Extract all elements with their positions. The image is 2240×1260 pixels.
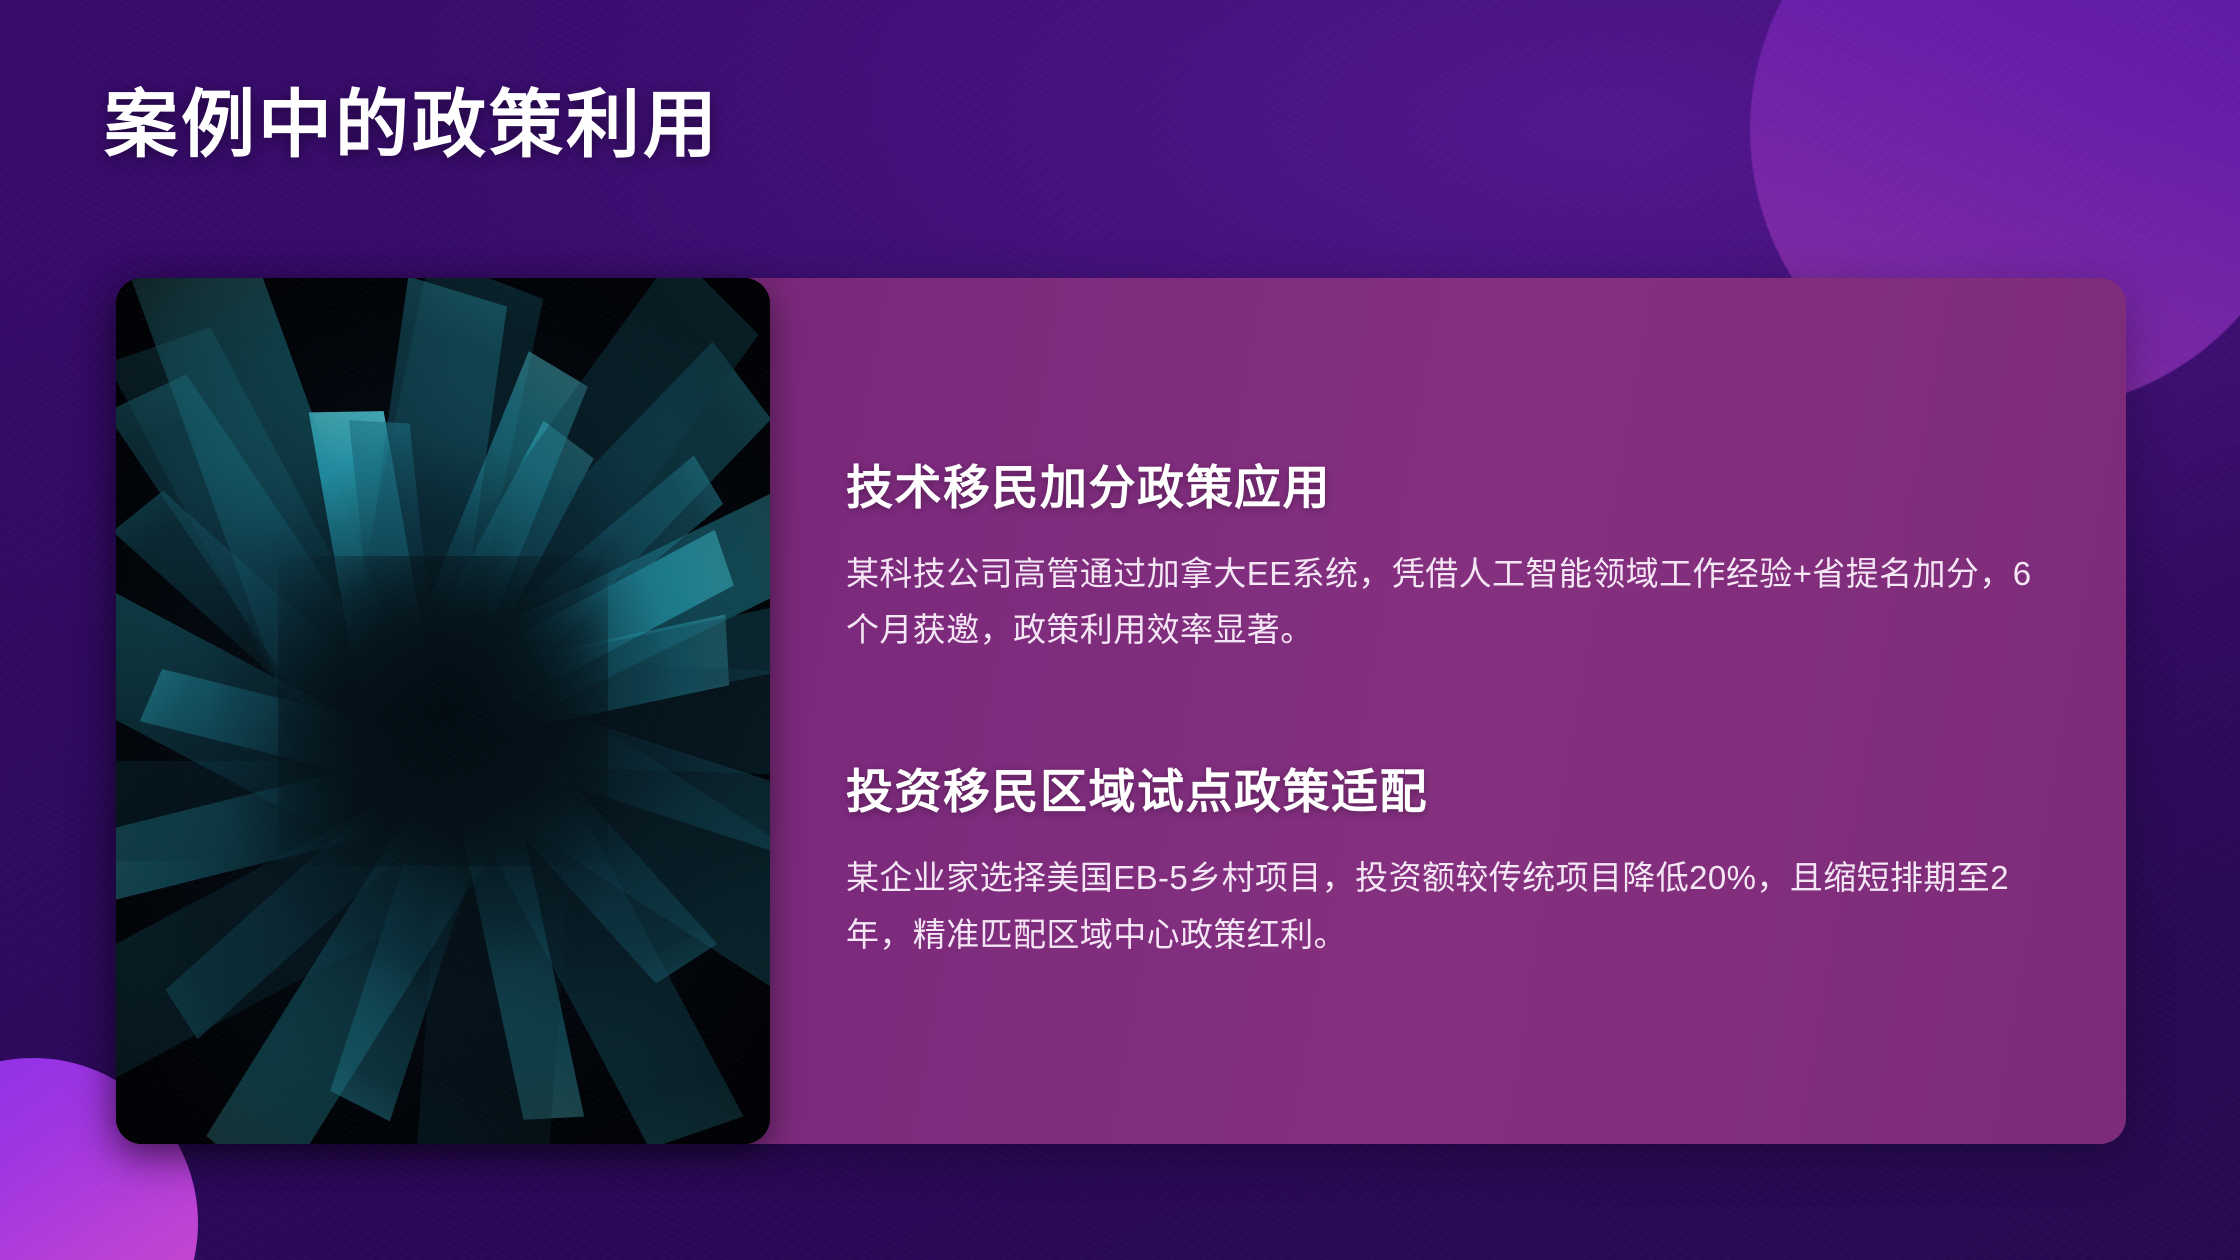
- illustration-card: [116, 278, 770, 1144]
- text-column: 技术移民加分政策应用 某科技公司高管通过加拿大EE系统，凭借人工智能领域工作经验…: [846, 278, 2046, 1144]
- section-heading-2: 投资移民区域试点政策适配: [846, 763, 2046, 822]
- slide-root: 案例中的政策利用 技术移民加分政策应用 某科技公司高管通过加拿大EE系统，凭借人…: [0, 0, 2240, 1260]
- section-body-1: 某科技公司高管通过加拿大EE系统，凭借人工智能领域工作经验+省提名加分，6个月获…: [846, 546, 2036, 660]
- section-investment-immigration: 投资移民区域试点政策适配 某企业家选择美国EB-5乡村项目，投资额较传统项目降低…: [846, 763, 2046, 963]
- burst-core: [278, 556, 608, 866]
- section-heading-1: 技术移民加分政策应用: [846, 459, 2046, 518]
- section-technical-immigration: 技术移民加分政策应用 某科技公司高管通过加拿大EE系统，凭借人工智能领域工作经验…: [846, 459, 2046, 659]
- section-body-2: 某企业家选择美国EB-5乡村项目，投资额较传统项目降低20%，且缩短排期至2年，…: [846, 850, 2036, 964]
- abstract-radial-burst-icon: [116, 278, 770, 1144]
- page-title: 案例中的政策利用: [104, 86, 720, 164]
